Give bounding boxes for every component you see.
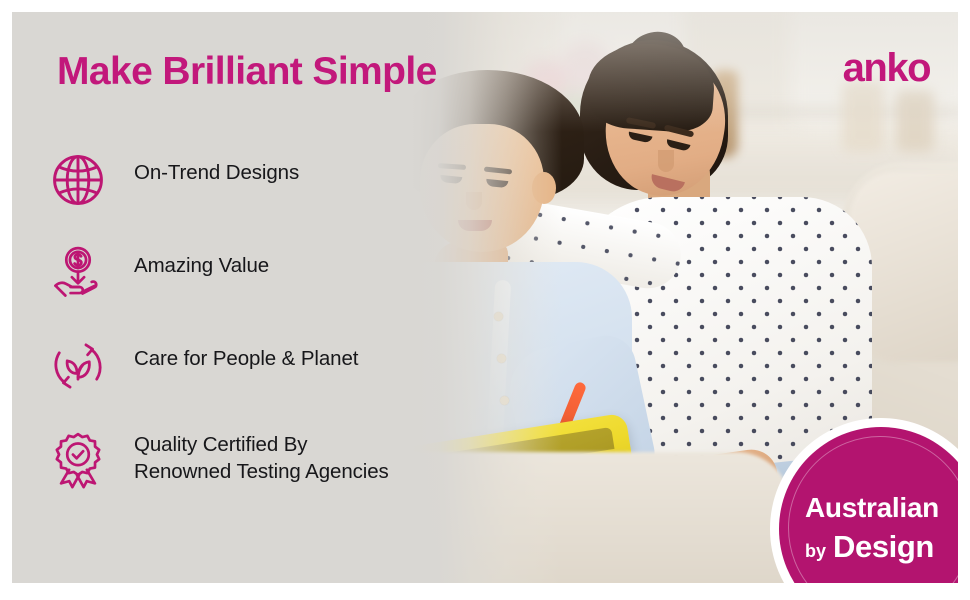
badge-word-by: by (805, 541, 826, 562)
content-panel: Make Brilliant Simple anko On-Trend Desi… (12, 12, 958, 583)
badge-line-by-design: by Design (805, 529, 934, 565)
australian-by-design-badge: Australian by Design (770, 418, 958, 583)
feature-item-amazing-value: Amazing Value (48, 243, 448, 336)
anko-logo: anko (843, 48, 930, 88)
feature-label: Amazing Value (134, 252, 269, 279)
shirt-button (494, 312, 503, 321)
boy-ear (532, 172, 556, 204)
recycle-leaf-icon (48, 336, 108, 396)
feature-item-on-trend-designs: On-Trend Designs (48, 150, 448, 243)
hand-coin-icon (48, 243, 108, 303)
anko-marketing-banner: Make Brilliant Simple anko On-Trend Desi… (0, 0, 970, 600)
boy-nose (466, 192, 482, 210)
feature-label: On-Trend Designs (134, 159, 299, 186)
kitchen-jar (842, 82, 884, 152)
feature-label: Quality Certified By Renowned Testing Ag… (134, 431, 389, 485)
woman-nose (658, 150, 674, 172)
shirt-button (497, 354, 506, 363)
page-title: Make Brilliant Simple (57, 50, 437, 94)
feature-item-care-for-people-and-planet: Care for People & Planet (48, 336, 448, 429)
feature-label: Care for People & Planet (134, 345, 358, 372)
feature-item-quality-certified: Quality Certified By Renowned Testing Ag… (48, 429, 448, 522)
award-badge-icon (48, 429, 108, 489)
kitchen-jar (896, 90, 934, 152)
globe-icon (48, 150, 108, 210)
badge-text: Australian by Design (779, 427, 958, 583)
shirt-button (500, 396, 509, 405)
badge-line-australian: Australian (805, 493, 939, 522)
badge-word-design: Design (833, 529, 934, 565)
feature-list: On-Trend Designs (48, 150, 448, 522)
sofa-seat (412, 452, 792, 583)
